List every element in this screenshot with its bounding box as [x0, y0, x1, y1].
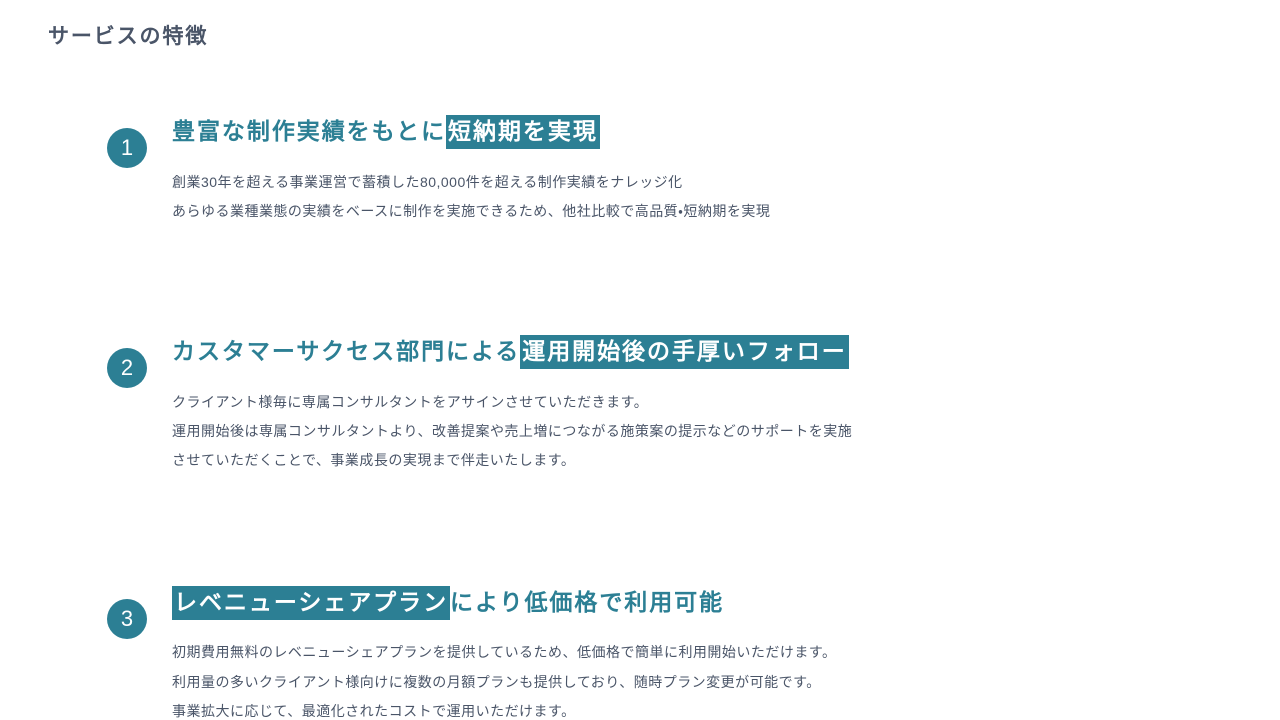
feature-item-2: 2 カスタマーサクセス部門による運用開始後の手厚いフォロー クライアント様毎に専… — [0, 336, 1280, 475]
feature-heading-highlight-2: 運用開始後の手厚いフォロー — [520, 335, 848, 369]
feature-body-line: 創業30年を超える事業運営で蓄積した80,000件を超える制作実績をナレッジ化 — [172, 168, 1280, 197]
feature-body-line: 事業拡大に応じて、最適化されたコストで運用いただけます。 — [172, 697, 1280, 720]
feature-number-badge-1: 1 — [107, 128, 147, 168]
feature-body-line: させていただくことで、事業成長の実現まで伴走いたします。 — [172, 446, 1280, 475]
feature-heading-plain-before-2: カスタマーサクセス部門による — [172, 338, 520, 364]
page-title: サービスの特徴 — [48, 20, 208, 50]
feature-heading-plain-before-1: 豊富な制作実績をもとに — [172, 118, 446, 144]
feature-body-line: 初期費用無料のレベニューシェアプランを提供しているため、低価格で簡単に利用開始い… — [172, 638, 1280, 667]
feature-body-3: 初期費用無料のレベニューシェアプランを提供しているため、低価格で簡単に利用開始い… — [172, 638, 1280, 720]
feature-heading-highlight-1: 短納期を実現 — [446, 115, 600, 149]
feature-item-1: 1 豊富な制作実績をもとに短納期を実現 創業30年を超える事業運営で蓄積した80… — [0, 116, 1280, 226]
feature-heading-3: レベニューシェアプランにより低価格で利用可能 — [172, 587, 1280, 619]
feature-body-1: 創業30年を超える事業運営で蓄積した80,000件を超える制作実績をナレッジ化 … — [172, 168, 1280, 227]
feature-body-line: クライアント様毎に専属コンサルタントをアサインさせていただきます。 — [172, 388, 1280, 417]
feature-item-3: 3 レベニューシェアプランにより低価格で利用可能 初期費用無料のレベニューシェア… — [0, 587, 1280, 720]
feature-body-line: 利用量の多いクライアント様向けに複数の月額プランも提供しており、随時プラン変更が… — [172, 668, 1280, 697]
slide-canvas: サービスの特徴 1 豊富な制作実績をもとに短納期を実現 創業30年を超える事業運… — [0, 0, 1280, 720]
feature-number-badge-2: 2 — [107, 348, 147, 388]
feature-heading-plain-after-3: により低価格で利用可能 — [450, 589, 724, 615]
feature-heading-1: 豊富な制作実績をもとに短納期を実現 — [172, 116, 1280, 148]
feature-heading-2: カスタマーサクセス部門による運用開始後の手厚いフォロー — [172, 336, 1280, 368]
feature-body-line: 運用開始後は専属コンサルタントより、改善提案や売上増につながる施策案の提示などの… — [172, 417, 1280, 446]
feature-number-badge-3: 3 — [107, 599, 147, 639]
feature-heading-highlight-3: レベニューシェアプラン — [172, 586, 450, 620]
feature-list: 1 豊富な制作実績をもとに短納期を実現 創業30年を超える事業運営で蓄積した80… — [0, 110, 1280, 720]
feature-body-line: あらゆる業種業態の実績をベースに制作を実施できるため、他社比較で高品質・短納期を… — [172, 197, 1280, 226]
feature-body-2: クライアント様毎に専属コンサルタントをアサインさせていただきます。 運用開始後は… — [172, 388, 1280, 476]
